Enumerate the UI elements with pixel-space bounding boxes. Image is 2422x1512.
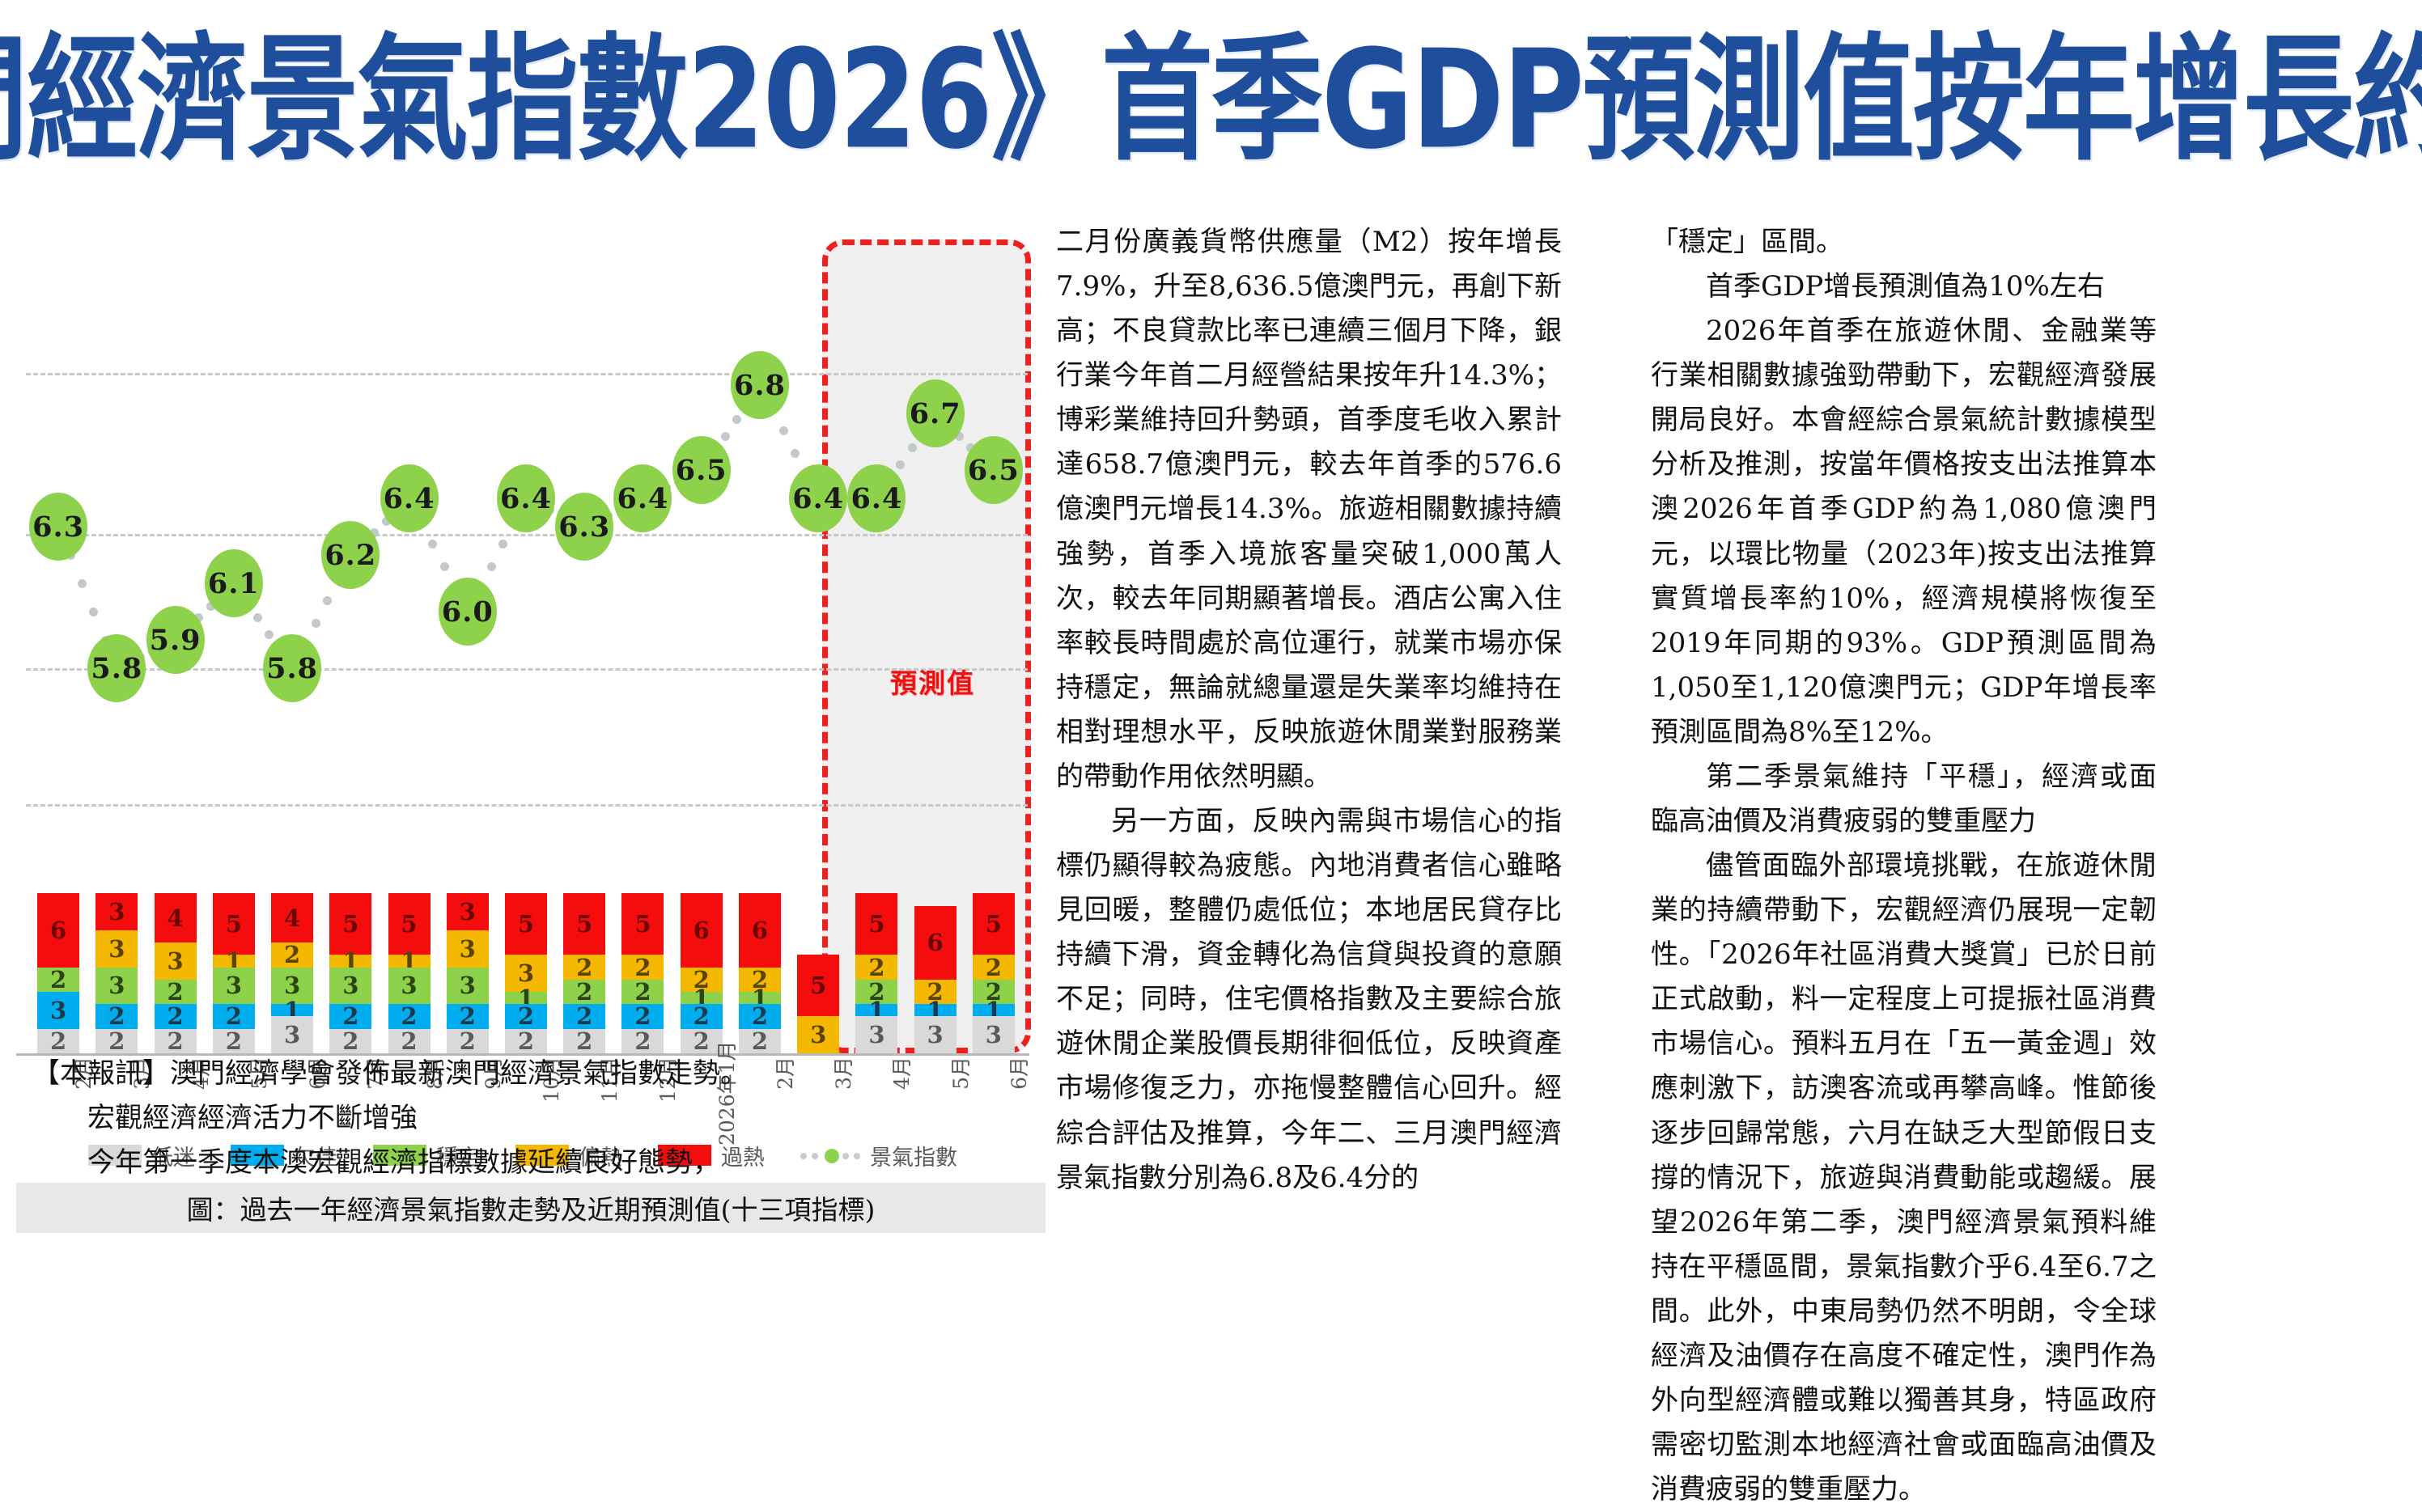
bar-segment-低迷: 2: [621, 1029, 664, 1053]
index-bubble: 5.8: [87, 634, 146, 702]
stacked-bar: 22333: [95, 893, 138, 1053]
paragraph: 另一方面，反映內需與市場信心的指標仍顯得較為疲態。內地消費者信心雖略見回暖，整體…: [1056, 799, 1562, 1201]
index-bubble: 6.0: [439, 578, 497, 646]
paragraph: 二月份廣義貨幣供應量（M2）按年增長7.9%，升至8,636.5億澳門元，再創下…: [1056, 220, 1562, 799]
article-column-right: 「穩定」區間。 首季GDP增長預測值為10%左右 2026年首季在旅遊休閒、金融…: [1651, 220, 2157, 1512]
bar-segment-欠佳: 2: [155, 1004, 197, 1028]
bar-segment-欠佳: 2: [447, 1004, 489, 1028]
paragraph: 宏觀經濟經濟活力不斷增強: [32, 1096, 761, 1141]
headline-part-2: 首季GDP預測值按年增長約10%: [1101, 32, 2422, 168]
bar-segment-過熱: 3: [447, 893, 489, 930]
bar-segment-欠佳: 2: [329, 1004, 371, 1028]
bar-segment-欠佳: 2: [563, 1004, 605, 1028]
bar-segment-偏熱: 2: [973, 955, 1015, 979]
trend-dot: [791, 449, 800, 458]
headline-part-1: 《澳門經濟景氣指數2026》: [0, 32, 1101, 168]
page-headline: 《澳門經濟景氣指數2026》 首季GDP預測值按年增長約10%: [0, 0, 2422, 201]
trend-dot: [487, 562, 496, 571]
bar-segment-欠佳: 2: [388, 1004, 431, 1028]
bar-segment-低迷: 3: [855, 1016, 897, 1053]
index-bubble: 6.3: [555, 493, 613, 561]
trend-dot: [428, 540, 437, 548]
stacked-bar: 31324: [271, 893, 313, 1053]
bar-segment-穩定: 3: [329, 968, 371, 1005]
trend-dot: [908, 443, 917, 452]
index-bubble: 6.4: [789, 464, 847, 532]
stacked-bar: 22126: [681, 893, 723, 1053]
bar-segment-低迷: 2: [329, 1029, 371, 1053]
bar-segment-欠佳: 1: [855, 1004, 897, 1016]
bar-segment-低迷: 2: [563, 1029, 605, 1053]
stacked-bar: 2326: [37, 893, 79, 1053]
trend-dot: [312, 619, 320, 628]
index-bubble: 6.2: [321, 521, 380, 589]
stacked-bar: 22126: [739, 893, 781, 1053]
index-bubble: 6.5: [965, 436, 1023, 504]
index-bubble: 6.4: [497, 464, 555, 532]
bar-segment-過熱: 6: [914, 906, 956, 980]
trend-dot: [498, 540, 507, 548]
bar-segment-偏熱: 2: [271, 942, 313, 967]
index-bubble: 6.7: [906, 379, 965, 447]
article-column-middle: 二月份廣義貨幣供應量（M2）按年增長7.9%，升至8,636.5億澳門元，再創下…: [1056, 220, 1562, 1201]
bar-segment-偏熱: 1: [329, 955, 371, 967]
bar-segment-過熱: 5: [505, 893, 547, 955]
bar-segment-欠佳: 2: [681, 1004, 723, 1028]
bar-segment-欠佳: 1: [271, 1004, 313, 1016]
bar-segment-穩定: 2: [37, 968, 79, 992]
trend-dot: [265, 630, 274, 639]
bar-segment-欠佳: 2: [95, 1004, 138, 1028]
stacked-bar: 31225: [855, 893, 897, 1053]
bar-segment-過熱: 4: [271, 893, 313, 942]
bar-segment-偏熱: 3: [155, 942, 197, 980]
bar-segment-欠佳: 2: [213, 1004, 255, 1028]
bar-segment-低迷: 2: [505, 1029, 547, 1053]
bar-segment-偏熱: 3: [447, 930, 489, 968]
bar-segment-穩定: 3: [95, 968, 138, 1005]
bar-segment-欠佳: 2: [505, 1004, 547, 1028]
trend-dot: [721, 432, 730, 441]
bar-segment-穩定: 2: [155, 980, 197, 1004]
trend-dot: [78, 579, 87, 588]
bar-segment-低迷: 2: [447, 1029, 489, 1053]
index-bubble: 6.3: [29, 493, 87, 561]
trend-dot: [779, 426, 788, 435]
bar-segment-低迷: 2: [155, 1029, 197, 1053]
bar-segment-低迷: 3: [914, 1016, 956, 1053]
stacked-bar: 22135: [505, 893, 547, 1053]
bar-segment-過熱: 5: [213, 893, 255, 955]
paragraph: 今年第一季度本澳宏觀經濟指標數據延續良好態勢，: [32, 1141, 761, 1185]
paragraph: 2026年首季在旅遊休閒、金融業等行業相關數據強勁帶動下，宏觀經濟發展開局良好。…: [1651, 309, 2157, 755]
legend-label: 景氣指數: [870, 1140, 957, 1171]
bar-segment-過熱: 5: [621, 893, 664, 955]
economic-index-chart: 6.35.85.96.15.86.26.46.06.46.36.46.56.86…: [8, 207, 1037, 1024]
legend-line-marker-icon: [800, 1146, 860, 1164]
bar-segment-偏熱: 2: [621, 955, 664, 979]
bar-segment-穩定: 2: [563, 980, 605, 1004]
legend-item-景氣指數: 景氣指數: [800, 1140, 957, 1171]
trend-dot: [440, 562, 449, 571]
bar-segment-低迷: 2: [213, 1029, 255, 1053]
trend-dot: [732, 415, 741, 424]
bar-segment-過熱: 6: [681, 893, 723, 967]
index-bubble: 5.9: [146, 606, 205, 674]
index-bubble: 6.1: [205, 549, 263, 617]
bar-segment-過熱: 5: [329, 893, 371, 955]
trend-dot: [89, 608, 98, 616]
index-bubble: 6.4: [613, 464, 672, 532]
paragraph: 第二季景氣維持「平穩」，經濟或面臨高油價及消費疲弱的雙重壓力: [1651, 755, 2157, 844]
bar-segment-過熱: 5: [797, 955, 839, 1016]
forecast-label: 預測值: [890, 662, 975, 701]
bar-segment-穩定: 3: [213, 968, 255, 1005]
stacked-bar-series: 2326223332223422315313242231522315223332…: [8, 875, 1037, 1053]
bar-segment-過熱: 5: [388, 893, 431, 955]
bar-segment-過熱: 6: [739, 893, 781, 967]
chart-caption: 圖：過去一年經濟景氣指數走勢及近期預測值(十三項指標): [16, 1183, 1046, 1233]
stacked-bar: 35: [797, 955, 839, 1053]
bar-segment-過熱: 5: [855, 893, 897, 955]
bar-segment-低迷: 2: [95, 1029, 138, 1053]
bar-segment-低迷: 2: [37, 1029, 79, 1053]
paragraph: 「穩定」區間。: [1651, 220, 2157, 265]
bar-segment-穩定: 3: [447, 968, 489, 1005]
bar-segment-低迷: 2: [388, 1029, 431, 1053]
bar-segment-過熱: 3: [95, 893, 138, 930]
stacked-bar: 22333: [447, 893, 489, 1053]
paragraph: 儘管面臨外部環境挑戰，在旅遊休閒業的持續帶動下，宏觀經濟仍展現一定韌性。「202…: [1651, 844, 2157, 1512]
bar-segment-欠佳: 2: [739, 1004, 781, 1028]
bar-segment-穩定: 3: [388, 968, 431, 1005]
bar-segment-過熱: 5: [563, 893, 605, 955]
paragraph: 首季GDP增長預測值為10%左右: [1651, 265, 2157, 309]
bar-segment-偏熱: 3: [95, 930, 138, 968]
bar-segment-偏熱: 2: [563, 955, 605, 979]
stacked-bar: 22234: [155, 893, 197, 1053]
paragraph: 【本報訊】澳門經濟學會發佈最新澳門經濟景氣指數走勢。: [32, 1052, 761, 1096]
bar-segment-偏熱: 2: [855, 955, 897, 979]
stacked-bar: 31225: [973, 893, 1015, 1053]
bar-segment-穩定: 2: [621, 980, 664, 1004]
stacked-bar: 3126: [914, 906, 956, 1053]
bar-segment-過熱: 6: [37, 893, 79, 967]
bar-segment-過熱: 5: [973, 893, 1015, 955]
gridline-1: [26, 534, 1028, 536]
chart-plot-area: 6.35.85.96.15.86.26.46.06.46.36.46.56.86…: [8, 207, 1037, 879]
bar-segment-欠佳: 1: [973, 1004, 1015, 1016]
trend-dot: [253, 613, 262, 622]
trend-dot: [323, 596, 332, 605]
index-bubble: 6.8: [731, 351, 789, 419]
index-bubble: 6.4: [847, 464, 906, 532]
bar-segment-低迷: 3: [271, 1016, 313, 1053]
bar-segment-低迷: 3: [973, 1016, 1015, 1053]
index-bubble: 6.5: [672, 436, 731, 504]
index-bubble: 5.8: [263, 634, 321, 702]
bar-segment-偏熱: 3: [797, 1016, 839, 1053]
stacked-bar: 22225: [621, 893, 664, 1053]
stacked-bar: 22315: [329, 893, 371, 1053]
bar-segment-過熱: 4: [155, 893, 197, 942]
bar-segment-偏熱: 1: [213, 955, 255, 967]
bar-segment-欠佳: 1: [914, 1004, 956, 1016]
bar-segment-低迷: 2: [739, 1029, 781, 1053]
gridline-0: [26, 373, 1028, 375]
stacked-bar: 22315: [213, 893, 255, 1053]
stacked-bar: 22225: [563, 893, 605, 1053]
gridline-3: [26, 804, 1028, 807]
index-bubble: 6.4: [380, 464, 439, 532]
bar-segment-欠佳: 2: [621, 1004, 664, 1028]
stacked-bar: 22315: [388, 893, 431, 1053]
bar-segment-偏熱: 1: [388, 955, 431, 967]
article-column-left: 【本報訊】澳門經濟學會發佈最新澳門經濟景氣指數走勢。 宏觀經濟經濟活力不斷增強 …: [32, 1052, 761, 1185]
bar-segment-欠佳: 3: [37, 992, 79, 1029]
